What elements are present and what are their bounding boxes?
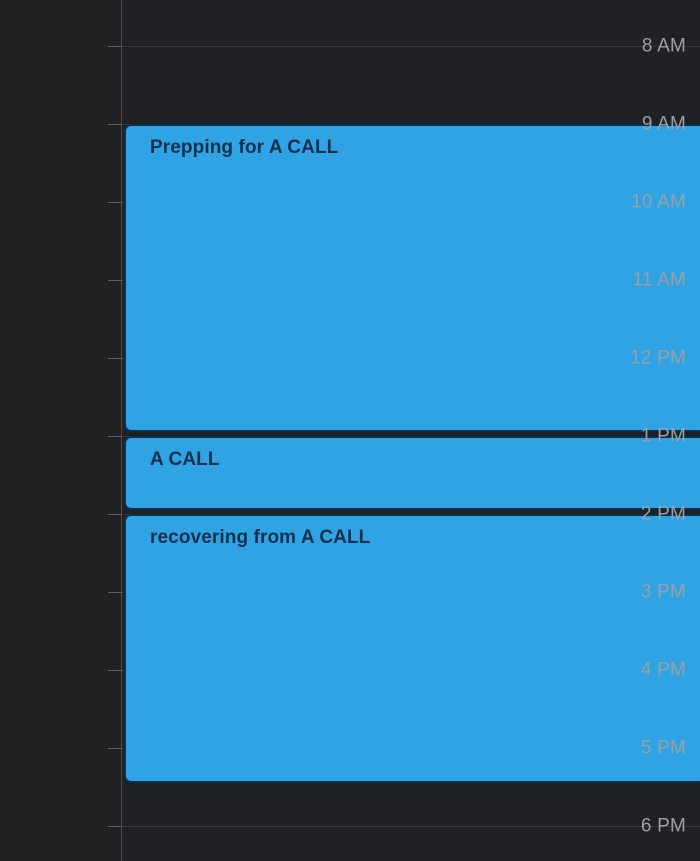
hour-label: 6 PM: [590, 817, 686, 836]
time-gutter: [0, 0, 122, 861]
hour-tick-mark: [108, 514, 122, 515]
hour-label: 3 PM: [590, 583, 686, 602]
hour-label: 10 AM: [590, 193, 686, 212]
hour-label: 8 AM: [590, 37, 686, 56]
hour-tick-mark: [108, 202, 122, 203]
hour-label: 4 PM: [590, 661, 686, 680]
hour-label: 5 PM: [590, 739, 686, 758]
hour-tick-mark: [108, 124, 122, 125]
gutter-divider: [121, 0, 122, 861]
hour-tick-mark: [108, 46, 122, 47]
hour-tick-mark: [108, 748, 122, 749]
hour-tick-mark: [108, 670, 122, 671]
hour-tick-mark: [108, 358, 122, 359]
day-calendar-view: Prepping for A CALLA CALLrecovering from…: [0, 0, 700, 861]
hour-tick-mark: [108, 280, 122, 281]
calendar-event[interactable]: A CALL: [124, 436, 700, 510]
hour-tick-mark: [108, 436, 122, 437]
hour-label: 12 PM: [590, 349, 686, 368]
hour-label: 9 AM: [590, 115, 686, 134]
hour-tick-mark: [108, 826, 122, 827]
hour-tick-mark: [108, 592, 122, 593]
hour-label: 2 PM: [590, 505, 686, 524]
hour-label: 1 PM: [590, 427, 686, 446]
hour-label: 11 AM: [590, 271, 686, 290]
